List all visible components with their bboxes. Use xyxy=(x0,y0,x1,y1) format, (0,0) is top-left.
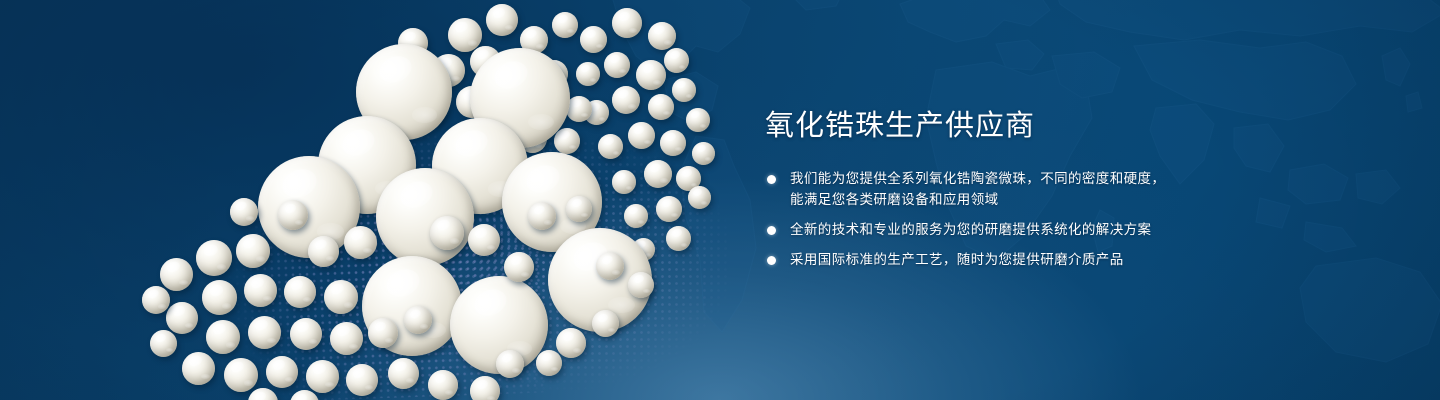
page-title: 氧化锆珠生产供应商 xyxy=(765,108,1385,143)
list-item-line: 采用国际标准的生产工艺，随时为您提供研磨介质产品 xyxy=(790,250,1385,271)
banner-text-block: 氧化锆珠生产供应商 我们能为您提供全系列氧化锆陶瓷微珠，不同的密度和硬度， 能满… xyxy=(765,108,1385,280)
hero-banner: 氧化锆珠生产供应商 我们能为您提供全系列氧化锆陶瓷微珠，不同的密度和硬度， 能满… xyxy=(0,0,1440,400)
list-item: 我们能为您提供全系列氧化锆陶瓷微珠，不同的密度和硬度， 能满足您各类研磨设备和应… xyxy=(765,169,1385,211)
bullet-dot-icon xyxy=(767,226,776,235)
feature-list: 我们能为您提供全系列氧化锆陶瓷微珠，不同的密度和硬度， 能满足您各类研磨设备和应… xyxy=(765,169,1385,271)
bullet-dot-icon xyxy=(767,256,776,265)
list-item: 全新的技术和专业的服务为您的研磨提供系统化的解决方案 xyxy=(765,220,1385,241)
list-item-line: 全新的技术和专业的服务为您的研磨提供系统化的解决方案 xyxy=(790,220,1385,241)
list-item-line: 我们能为您提供全系列氧化锆陶瓷微珠，不同的密度和硬度， xyxy=(790,169,1385,190)
list-item: 采用国际标准的生产工艺，随时为您提供研磨介质产品 xyxy=(765,250,1385,271)
bullet-dot-icon xyxy=(767,175,776,184)
list-item-line: 能满足您各类研磨设备和应用领域 xyxy=(790,190,1385,211)
